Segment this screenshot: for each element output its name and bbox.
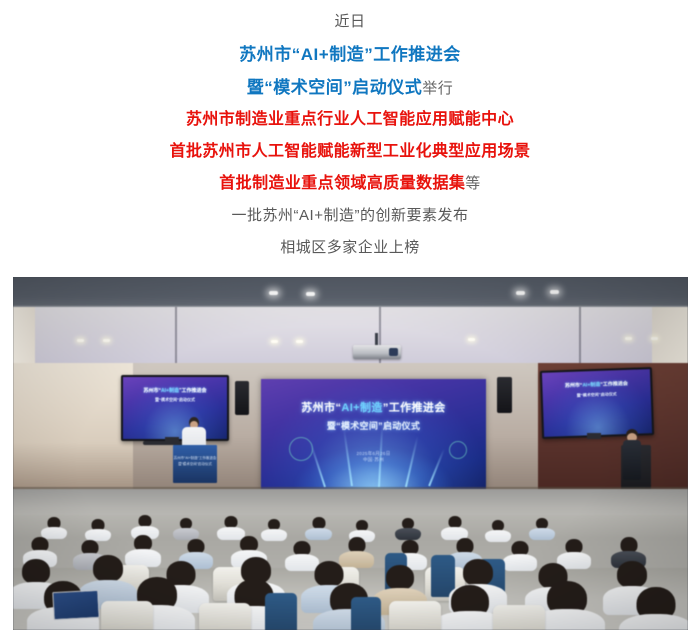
upper-wall-band — [13, 307, 688, 365]
main-stage-screen: 苏州市“AI+制造”工作推进会 暨“模术空间”启动仪式 2025年6月26日 中… — [261, 379, 486, 491]
title-line-2: 暨“模术空间”启动仪式举行 — [0, 71, 700, 104]
main-screen-title: 苏州市“AI+制造”工作推进会 — [261, 399, 486, 415]
date-line-text: 近日 — [334, 13, 365, 30]
title-line-1-text: 苏州市“AI+制造”工作推进会 — [239, 45, 460, 64]
wall-spot-light — [271, 340, 278, 343]
wall-spot-light — [625, 337, 632, 340]
ceiling-light — [269, 291, 278, 295]
wall-spot-light — [468, 338, 475, 341]
audience-person — [395, 518, 421, 540]
main-screen-date: 2025年6月26日 中国·苏州 — [261, 451, 486, 465]
main-screen-title-suffix: ”工作推进会 — [383, 402, 446, 414]
right-side-screen-display: 苏州市“AI+制造”工作推进会 暨“模术空间”启动仪式 — [542, 369, 652, 437]
main-screen-subtitle: 暨“模术空间”启动仪式 — [261, 419, 486, 432]
wall-spot-light — [296, 340, 303, 343]
title-line-1: 苏州市“AI+制造”工作推进会 — [0, 38, 700, 71]
left-screen-title: 苏州市“AI+制造”工作推进会 — [123, 387, 227, 394]
audience-chair-front — [199, 603, 251, 630]
laptop — [52, 590, 99, 620]
ceiling-light — [306, 292, 315, 296]
main-screen-title-prefix: 苏州市“ — [301, 402, 341, 414]
audience-person — [441, 516, 468, 540]
podium: 苏州市“AI+制造”工作推进会 暨“模术空间”启动仪式 — [173, 445, 217, 483]
left-screen-subtitle: 暨“模术空间”启动仪式 — [123, 397, 227, 403]
main-screen-title-highlight: AI+制造 — [341, 402, 382, 414]
photo-scene: 苏州市“AI+制造”工作推进会 暨“模术空间”启动仪式 2025年6月26日 中… — [13, 277, 688, 630]
audience-person-foreground — [619, 587, 688, 630]
loudspeaker-left — [235, 381, 249, 415]
audience-chair-front — [389, 601, 441, 630]
right-screen-subtitle: 暨“模术空间”启动仪式 — [543, 390, 651, 400]
left-screen-title-prefix: 苏州市“ — [144, 388, 162, 394]
wall-spot-light — [103, 339, 110, 342]
wall-spot-light — [77, 339, 84, 342]
projector-lens — [389, 348, 398, 356]
left-side-screen: 苏州市“AI+制造”工作推进会 暨“模术空间”启动仪式 — [121, 375, 229, 441]
audience-chair-front — [101, 601, 153, 630]
left-side-screen-display: 苏州市“AI+制造”工作推进会 暨“模术空间”启动仪式 — [123, 377, 227, 439]
date-line: 近日 — [0, 6, 700, 38]
right-screen-title-highlight: AI+制造 — [582, 382, 600, 389]
audience-chair-front — [493, 605, 545, 630]
article-container: 近日 苏州市“AI+制造”工作推进会 暨“模术空间”启动仪式举行 苏州市制造业重… — [0, 0, 700, 630]
right-screen-title: 苏州市“AI+制造”工作推进会 — [542, 379, 650, 390]
ceiling-light — [516, 291, 525, 295]
title-line-2-suffix: 举行 — [422, 80, 453, 97]
summary-line-2: 相城区多家企业上榜 — [0, 232, 700, 264]
highlight-line-2: 首批苏州市人工智能赋能新型工业化典型应用场景 — [0, 136, 700, 168]
audience-person — [485, 520, 511, 542]
summary-line-2-text: 相城区多家企业上榜 — [280, 239, 420, 256]
right-screen-title-suffix: ”工作推进会 — [600, 381, 628, 388]
podium-text: 苏州市“AI+制造”工作推进会 暨“模术空间”启动仪式 — [173, 456, 217, 467]
highlight-line-1: 苏州市制造业重点行业人工智能应用赋能中心 — [0, 104, 700, 136]
highlight-line-3: 首批制造业重点领域高质量数据集等 — [0, 168, 700, 200]
audience-person — [529, 518, 555, 540]
audience-person — [173, 518, 199, 540]
audience-person — [305, 517, 332, 540]
ceiling-light — [550, 290, 559, 294]
wall-seam — [579, 307, 581, 365]
wall-seam — [175, 307, 177, 365]
highlight-line-3-suffix: 等 — [465, 175, 480, 192]
wall-left-panel — [13, 363, 133, 495]
left-screen-title-highlight: AI+制造 — [161, 388, 179, 394]
audience-chair-front-dark — [351, 597, 381, 630]
right-screen-title-prefix: 苏州市“ — [565, 383, 583, 390]
audience-person — [41, 517, 67, 539]
wall-spot-light — [651, 337, 658, 340]
highlight-line-1-text: 苏州市制造业重点行业人工智能应用赋能中心 — [186, 111, 514, 128]
loudspeaker-right — [497, 377, 512, 413]
left-screen-title-suffix: ”工作推进会 — [179, 388, 207, 394]
upper-wall-left — [13, 307, 35, 365]
audience-area — [13, 515, 688, 630]
podium-line-2: 暨“模术空间”启动仪式 — [173, 462, 217, 468]
audience-chair-front-dark — [265, 593, 297, 630]
summary-line-1-text: 一批苏州“AI+制造”的创新要素发布 — [232, 207, 469, 224]
standing-attendee — [621, 429, 643, 481]
upper-wall-right — [652, 307, 688, 365]
ceiling — [13, 277, 688, 309]
title-line-2-text: 暨“模术空间”启动仪式 — [247, 78, 423, 97]
main-screen-place-text: 中国·苏州 — [261, 457, 486, 464]
highlight-line-3-text: 首批制造业重点领域高质量数据集 — [219, 175, 465, 192]
conference-photo: 苏州市“AI+制造”工作推进会 暨“模术空间”启动仪式 2025年6月26日 中… — [13, 277, 688, 630]
highlight-line-2-text: 首批苏州市人工智能赋能新型工业化典型应用场景 — [170, 143, 531, 160]
right-screen-stand — [587, 433, 601, 439]
audience-person — [85, 519, 111, 541]
headline-text-block: 近日 苏州市“AI+制造”工作推进会 暨“模术空间”启动仪式举行 苏州市制造业重… — [0, 0, 700, 264]
summary-line-1: 一批苏州“AI+制造”的创新要素发布 — [0, 200, 700, 232]
